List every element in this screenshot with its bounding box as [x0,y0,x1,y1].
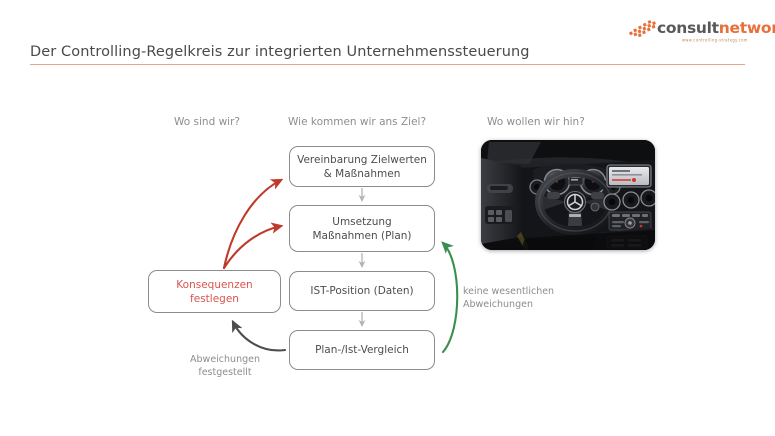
edge-label-keine-line2: Abweichungen [463,299,533,310]
node-ist-text: IST-Position (Daten) [310,284,413,298]
node-vereinbarung-text: Vereinbarung Zielwerten& Maßnahmen [297,153,427,181]
node-vereinbarung-zielwerten[interactable]: Vereinbarung Zielwerten& Maßnahmen [289,146,435,187]
node-umsetzung-line1: Umsetzung [332,216,391,228]
edge-label-abweichungen-line1: Abweichungen [190,354,260,365]
edge-label-abweichungen-line2: festgestellt [198,367,251,378]
node-konsequenzen-line1: Konsequenzen [176,279,252,291]
arrow-konsequenzen-to-umsetzung [224,226,281,268]
brand-logo: consultnetwork www.controlling-strategy.… [627,18,753,50]
logo-url: www.controlling-strategy.com [682,38,748,43]
logo-text-network: network [719,19,775,37]
car-dashboard-photo [481,140,655,250]
node-konsequenzen-festlegen[interactable]: Konsequenzenfestlegen [148,270,281,313]
arrow-konsequenzen-to-vereinbarung [224,180,281,268]
slide-canvas: consultnetwork www.controlling-strategy.… [0,0,775,436]
node-ist-position[interactable]: IST-Position (Daten) [289,271,435,311]
edge-label-abweichungen-festgestellt: Abweichungen festgestellt [170,353,280,379]
node-konsequenzen-line2: festlegen [190,293,239,305]
question-label-center: Wie kommen wir ans Ziel? [288,116,426,128]
question-label-right: Wo wollen wir hin? [487,116,585,128]
arrow-planist-to-umsetzung [443,243,457,352]
edge-label-keine-abweichungen: keine wesentlichen Abweichungen [463,285,563,311]
question-label-left: Wo sind wir? [174,116,240,128]
node-plan-ist-text: Plan-/Ist-Vergleich [315,343,409,357]
edge-label-keine-line1: keine wesentlichen [463,286,554,297]
logo-dots-icon [629,20,659,38]
node-konsequenzen-text: Konsequenzenfestlegen [176,278,252,306]
logo-text-consult: consult [657,19,719,37]
page-title: Der Controlling-Regelkreis zur integrier… [30,44,530,60]
node-vereinbarung-line1: Vereinbarung Zielwerten [297,154,427,166]
node-umsetzung-line2: Maßnahmen (Plan) [312,230,411,242]
node-vereinbarung-line2: & Maßnahmen [324,168,401,180]
arrow-planist-to-konsequenzen [233,322,285,350]
logo-wordmark: consultnetwork [657,20,775,37]
node-umsetzung-text: UmsetzungMaßnahmen (Plan) [312,215,411,243]
node-umsetzung-massnahmen[interactable]: UmsetzungMaßnahmen (Plan) [289,205,435,252]
title-divider [30,64,745,65]
node-plan-ist-vergleich[interactable]: Plan-/Ist-Vergleich [289,330,435,370]
